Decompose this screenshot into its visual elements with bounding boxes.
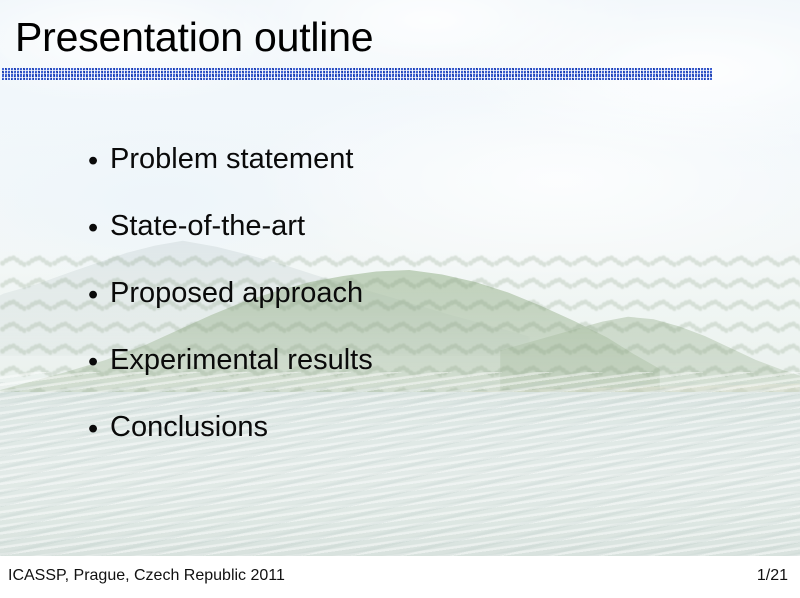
- title-divider-rule: [2, 68, 712, 80]
- bullet-label: Proposed approach: [110, 276, 363, 310]
- list-item: • Experimental results: [88, 343, 728, 410]
- bullet-label: Problem statement: [110, 142, 353, 176]
- bullet-dot-icon: •: [88, 412, 98, 446]
- presentation-slide: Presentation outline • Problem statement…: [0, 0, 800, 598]
- footer-page-number: 1/21: [757, 566, 788, 586]
- footer-conference-text: ICASSP, Prague, Czech Republic 2011: [8, 566, 285, 586]
- list-item: • State-of-the-art: [88, 209, 728, 276]
- bullet-dot-icon: •: [88, 144, 98, 178]
- bullet-dot-icon: •: [88, 211, 98, 245]
- outline-bullet-list: • Problem statement • State-of-the-art •…: [88, 142, 728, 477]
- list-item: • Problem statement: [88, 142, 728, 209]
- bullet-label: Experimental results: [110, 343, 373, 377]
- bullet-dot-icon: •: [88, 345, 98, 379]
- bullet-label: Conclusions: [110, 410, 268, 444]
- bullet-label: State-of-the-art: [110, 209, 305, 243]
- slide-title: Presentation outline: [15, 12, 373, 62]
- slide-content: Presentation outline • Problem statement…: [0, 0, 800, 598]
- list-item: • Conclusions: [88, 410, 728, 477]
- bullet-dot-icon: •: [88, 278, 98, 312]
- list-item: • Proposed approach: [88, 276, 728, 343]
